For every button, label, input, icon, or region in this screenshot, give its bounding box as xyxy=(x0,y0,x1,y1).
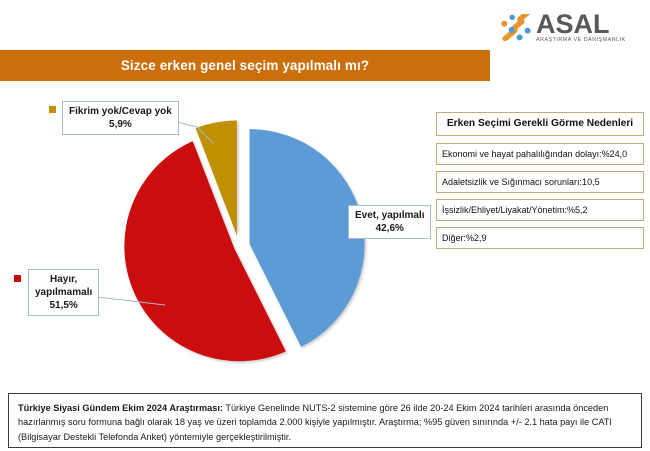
reasons-row-issizlik: İşsizlik/Ehliyet/Liyakat/Yönetim:%5,2 xyxy=(436,199,644,221)
callout-evet-value: 42,6% xyxy=(355,222,424,235)
asal-logo: ASAL ARAŞTIRMA VE DANIŞMANLIK xyxy=(500,8,645,52)
callout-label-hayir: Hayır, yapılmamalı 51,5% xyxy=(28,269,99,316)
callout-fikrim-line1: Fikrim yok/Cevap yok xyxy=(69,105,172,118)
callout-label-evet: Evet, yapılmalı 42,6% xyxy=(348,205,431,239)
reasons-panel-header: Erken Seçimi Gerekli Görme Nedenleri xyxy=(436,112,644,136)
callout-hayir-line1: Hayır, xyxy=(35,273,92,286)
reasons-row-diger: Diğer:%2,9 xyxy=(436,227,644,249)
slide-canvas: ASAL ARAŞTIRMA VE DANIŞMANLIK Sizce erke… xyxy=(0,0,650,451)
reasons-row-adaletsizlik: Adaletsizlik ve Sığınmacı sorunları:10,5 xyxy=(436,171,644,193)
callout-hayir-value: 51,5% xyxy=(35,299,92,312)
diagonal-dots-logo-icon xyxy=(500,14,536,44)
footer-lead: Türkiye Siyasi Gündem Ekim 2024 Araştırm… xyxy=(18,403,223,413)
legend-swatch-evet xyxy=(334,211,341,218)
callout-evet-line1: Evet, yapılmalı xyxy=(355,209,424,222)
question-title-bar: Sizce erken genel seçim yapılmalı mı? xyxy=(0,50,490,81)
legend-swatch-fikrim xyxy=(49,106,56,113)
reasons-panel: Erken Seçimi Gerekli Görme Nedenleri Eko… xyxy=(436,112,644,255)
pie-chart xyxy=(95,105,395,380)
logo-text-block: ASAL ARAŞTIRMA VE DANIŞMANLIK xyxy=(536,10,644,44)
methodology-footnote: Türkiye Siyasi Gündem Ekim 2024 Araştırm… xyxy=(8,393,642,448)
page-title: Sizce erken genel seçim yapılmalı mı? xyxy=(121,58,369,73)
legend-swatch-hayir xyxy=(14,275,21,282)
callout-fikrim-value: 5,9% xyxy=(69,118,172,131)
reasons-row-ekonomi: Ekonomi ve hayat pahalılığından dolayı:%… xyxy=(436,143,644,165)
callout-label-fikrim: Fikrim yok/Cevap yok 5,9% xyxy=(62,101,179,135)
callout-hayir-line2: yapılmamalı xyxy=(35,286,92,299)
logo-wordmark: ASAL xyxy=(536,10,644,38)
logo-tagline: ARAŞTIRMA VE DANIŞMANLIK xyxy=(536,37,644,44)
